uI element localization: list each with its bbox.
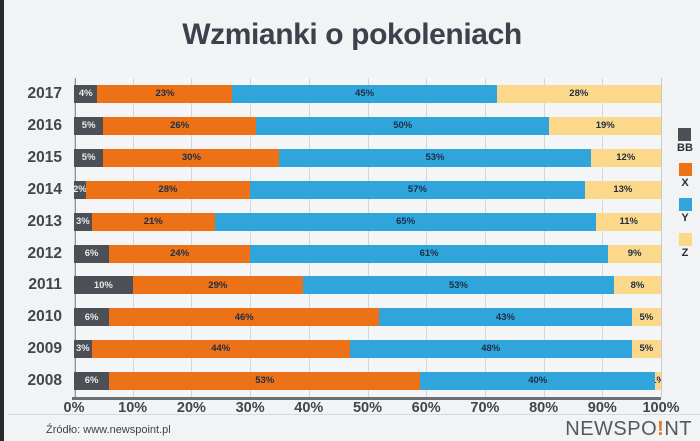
bar-segment-bb[interactable]: 4% (74, 85, 97, 103)
bar-segment-z[interactable]: 1% (655, 372, 661, 390)
bar-value-label: 11% (619, 217, 638, 227)
bar-segment-y[interactable]: 53% (279, 149, 590, 167)
y-axis-tick-2016: 2016 (28, 110, 62, 142)
bar-value-label: 19% (596, 121, 615, 131)
bar-segment-y[interactable]: 45% (232, 85, 496, 103)
y-axis-tick-2010: 2010 (28, 301, 62, 333)
bar-row: 6%24%61%9% (74, 238, 661, 270)
bar-row: 5%26%50%19% (74, 110, 661, 142)
chart-legend: BBXYZ (668, 128, 700, 268)
legend-label: Z (682, 248, 689, 259)
bar-segment-x[interactable]: 30% (103, 149, 279, 167)
legend-swatch-y (679, 198, 692, 211)
legend-item-bb[interactable]: BB (677, 128, 693, 154)
bar-segment-x[interactable]: 46% (109, 308, 379, 326)
bar-value-label: 43% (496, 313, 515, 323)
bar-value-label: 1% (655, 376, 661, 386)
bar-value-label: 5% (82, 153, 96, 163)
gridline (661, 78, 662, 397)
bar-segment-z[interactable]: 9% (608, 245, 661, 263)
bar-segment-bb[interactable]: 3% (74, 340, 92, 358)
bar-value-label: 6% (85, 249, 99, 259)
legend-item-x[interactable]: X (679, 163, 692, 189)
legend-item-z[interactable]: Z (679, 233, 692, 259)
bar-segment-y[interactable]: 53% (303, 276, 614, 294)
bar-segment-bb[interactable]: 2% (74, 181, 86, 199)
bar-value-label: 21% (144, 217, 163, 227)
bar-segment-y[interactable]: 40% (420, 372, 655, 390)
bar-row: 6%53%40%1% (74, 365, 661, 397)
bar-value-label: 44% (211, 344, 230, 354)
y-axis-tick-2008: 2008 (28, 365, 62, 397)
bar-segment-y[interactable]: 43% (379, 308, 631, 326)
bar-segment-y[interactable]: 65% (215, 213, 597, 231)
bar-rows: 4%23%45%28%5%26%50%19%5%30%53%12%2%28%57… (74, 78, 661, 397)
bar-value-label: 5% (82, 121, 96, 131)
bar-segment-bb[interactable]: 6% (74, 308, 109, 326)
bar-value-label: 57% (408, 185, 427, 195)
y-axis-tick-2013: 2013 (28, 206, 62, 238)
bar-value-label: 50% (393, 121, 412, 131)
brand-pre: NEWSPO (565, 418, 657, 440)
bar-segment-y[interactable]: 48% (350, 340, 632, 358)
bar-segment-y[interactable]: 61% (250, 245, 608, 263)
bar-value-label: 28% (569, 89, 588, 99)
bar-segment-bb[interactable]: 6% (74, 245, 109, 263)
bar-segment-z[interactable]: 13% (585, 181, 661, 199)
bar-row: 3%21%65%11% (74, 206, 661, 238)
bar-value-label: 46% (235, 313, 254, 323)
page-title: Wzmianki o pokoleniach (4, 18, 700, 52)
bar-value-label: 53% (425, 153, 444, 163)
bar-value-label: 28% (158, 185, 177, 195)
bar-segment-z[interactable]: 11% (596, 213, 661, 231)
bar-segment-x[interactable]: 24% (109, 245, 250, 263)
bar-segment-x[interactable]: 21% (92, 213, 215, 231)
bar-value-label: 5% (639, 344, 653, 354)
bar-value-label: 45% (355, 89, 374, 99)
bar-value-label: 26% (170, 121, 189, 131)
bar-row: 5%30%53%12% (74, 142, 661, 174)
bar-segment-x[interactable]: 29% (133, 276, 303, 294)
bar-value-label: 6% (85, 313, 99, 323)
legend-item-y[interactable]: Y (679, 198, 692, 224)
bar-segment-y[interactable]: 50% (256, 117, 550, 135)
plot-area: 4%23%45%28%5%26%50%19%5%30%53%12%2%28%57… (74, 78, 661, 397)
bar-value-label: 3% (76, 217, 90, 227)
y-axis-tick-2014: 2014 (28, 174, 62, 206)
bar-value-label: 9% (628, 249, 642, 259)
bar-value-label: 48% (481, 344, 500, 354)
source-note: Źródło: www.newspoint.pl (46, 424, 171, 436)
bar-value-label: 3% (76, 344, 90, 354)
newspoint-logo: NEWSPO!NT (565, 418, 692, 441)
bar-segment-bb[interactable]: 10% (74, 276, 133, 294)
bar-value-label: 13% (613, 185, 632, 195)
bar-value-label: 53% (255, 376, 274, 386)
bar-value-label: 30% (182, 153, 201, 163)
bar-segment-z[interactable]: 12% (591, 149, 661, 167)
legend-swatch-z (679, 233, 692, 246)
bar-segment-z[interactable]: 8% (614, 276, 661, 294)
footer-divider (8, 414, 700, 415)
legend-label: X (681, 178, 688, 189)
bar-row: 10%29%53%8% (74, 269, 661, 301)
bar-segment-x[interactable]: 44% (92, 340, 350, 358)
bar-row: 3%44%48%5% (74, 333, 661, 365)
bar-row: 2%28%57%13% (74, 174, 661, 206)
bar-value-label: 53% (449, 281, 468, 291)
legend-swatch-bb (678, 128, 691, 141)
brand-post: NT (664, 418, 692, 440)
bar-segment-bb[interactable]: 5% (74, 149, 103, 167)
bar-segment-x[interactable]: 53% (109, 372, 420, 390)
bar-value-label: 2% (74, 185, 86, 195)
bar-segment-x[interactable]: 23% (97, 85, 232, 103)
bar-value-label: 24% (170, 249, 189, 259)
bar-segment-z[interactable]: 5% (632, 308, 661, 326)
bar-value-label: 4% (79, 89, 93, 99)
y-axis-tick-2015: 2015 (28, 142, 62, 174)
y-axis-tick-2009: 2009 (28, 333, 62, 365)
bar-row: 4%23%45%28% (74, 78, 661, 110)
bar-value-label: 29% (208, 281, 227, 291)
bar-value-label: 23% (155, 89, 174, 99)
bar-value-label: 8% (631, 281, 645, 291)
legend-label: BB (677, 143, 693, 154)
y-axis-tick-2012: 2012 (28, 238, 62, 270)
bar-segment-bb[interactable]: 6% (74, 372, 109, 390)
chart-canvas: Wzmianki o pokoleniach 20172016201520142… (0, 0, 700, 441)
y-axis-tick-2017: 2017 (28, 78, 62, 110)
legend-swatch-x (679, 163, 692, 176)
y-axis-tick-2011: 2011 (28, 269, 62, 301)
bar-value-label: 6% (85, 376, 99, 386)
bar-value-label: 10% (94, 281, 113, 291)
bar-segment-z[interactable]: 5% (632, 340, 661, 358)
bar-value-label: 61% (420, 249, 439, 259)
bar-row: 6%46%43%5% (74, 301, 661, 333)
legend-label: Y (681, 213, 688, 224)
bar-segment-bb[interactable]: 5% (74, 117, 103, 135)
bar-segment-y[interactable]: 57% (250, 181, 585, 199)
bar-segment-x[interactable]: 26% (103, 117, 256, 135)
bar-value-label: 40% (528, 376, 547, 386)
bar-value-label: 65% (396, 217, 415, 227)
y-axis-labels: 2017201620152014201320122011201020092008 (4, 78, 70, 397)
bar-segment-z[interactable]: 28% (497, 85, 661, 103)
bar-segment-x[interactable]: 28% (86, 181, 250, 199)
bar-value-label: 12% (616, 153, 635, 163)
bar-value-label: 5% (639, 313, 653, 323)
bar-segment-z[interactable]: 19% (549, 117, 661, 135)
bar-segment-bb[interactable]: 3% (74, 213, 92, 231)
